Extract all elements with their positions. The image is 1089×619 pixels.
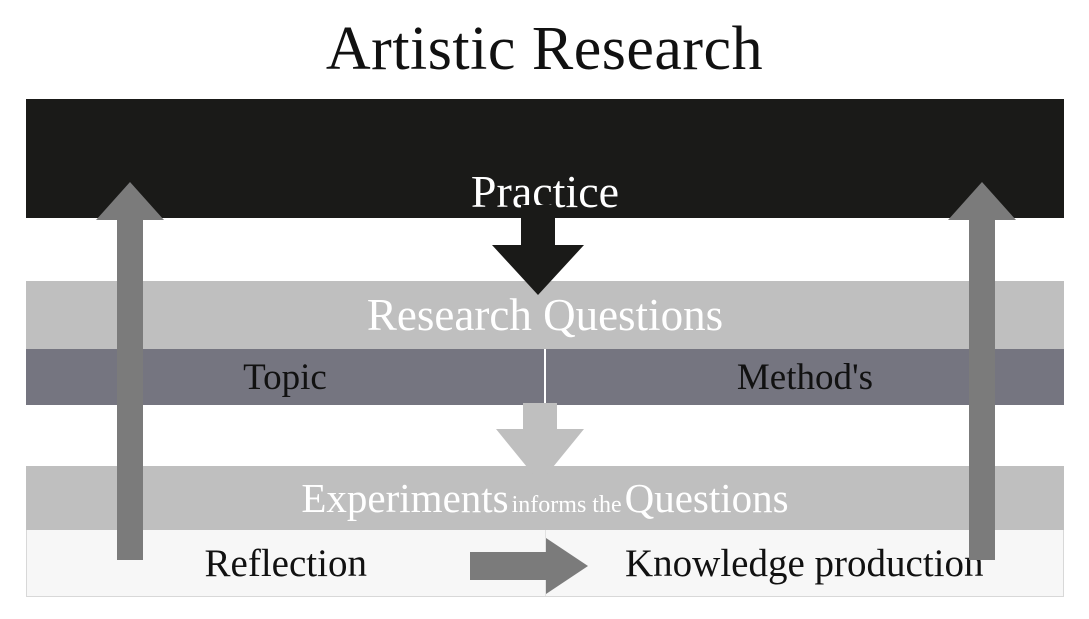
cell-knowledge-production-label: Knowledge production — [625, 544, 984, 583]
band-experiments-label-part2: Questions — [625, 475, 789, 521]
feedback-arrow-right-icon — [948, 182, 1016, 560]
band-experiments-label-small: informs the — [509, 492, 625, 518]
reflection-to-knowledge-arrow-icon — [470, 538, 588, 594]
cell-topic-label: Topic — [243, 359, 327, 396]
band-experiments-label-part1: Experiments — [301, 475, 508, 521]
reflection-to-knowledge-arrow-shape — [470, 538, 588, 594]
feedback-arrow-right-shape — [948, 182, 1016, 560]
methods-to-experiments-arrow-icon — [496, 403, 584, 483]
cell-reflection-label: Reflection — [205, 544, 367, 583]
methods-to-experiments-arrow-shape — [496, 403, 584, 483]
band-experiments-label: Experimentsinforms theQuestions — [301, 478, 788, 519]
band-topic-methods: Topic Method's — [26, 349, 1064, 405]
practice-to-questions-arrow-icon — [492, 205, 584, 295]
practice-to-questions-arrow-shape — [492, 205, 584, 295]
band-practice: Practice — [26, 99, 1064, 218]
feedback-arrow-left-shape — [96, 182, 164, 560]
feedback-arrow-left-icon — [96, 182, 164, 560]
band-research-questions-label: Research Questions — [367, 293, 723, 338]
cell-methods-label: Method's — [737, 359, 873, 396]
page-title: Artistic Research — [0, 12, 1089, 86]
